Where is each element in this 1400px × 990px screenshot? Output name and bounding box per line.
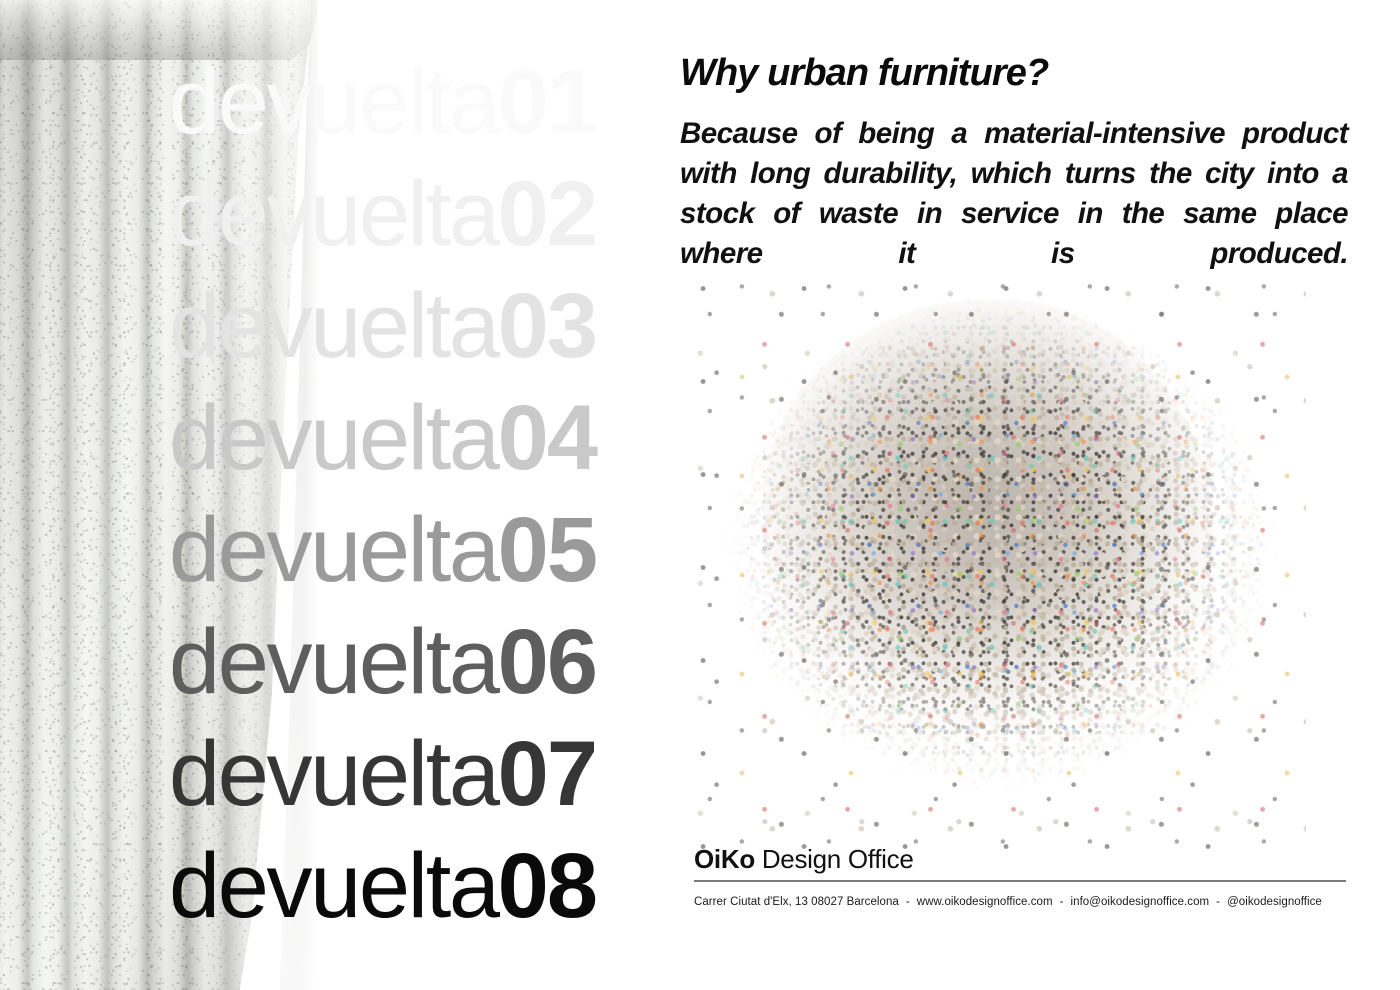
devuelta-number-stack: devuelta01 devuelta02 devuelta03 devuelt…: [0, 0, 640, 990]
devuelta-number-06: 06: [498, 611, 596, 713]
footer: OiKo Design Office Carrer Ciutat d'Elx, …: [694, 842, 1346, 908]
devuelta-word-03: devuelta: [169, 275, 498, 377]
devuelta-row-08: devuelta08: [169, 840, 596, 932]
devuelta-row-07: devuelta07: [169, 728, 596, 820]
footer-divider: [694, 880, 1346, 882]
devuelta-word-04: devuelta: [169, 387, 498, 489]
devuelta-word-02: devuelta: [169, 163, 498, 265]
footer-email[interactable]: info@oikodesignoffice.com: [1071, 896, 1210, 908]
devuelta-word-06: devuelta: [169, 611, 498, 713]
devuelta-word-05: devuelta: [169, 499, 498, 601]
footer-address: Carrer Ciutat d'Elx, 13 08027 Barcelona: [694, 896, 899, 908]
left-panel: devuelta01 devuelta02 devuelta03 devuelt…: [0, 0, 640, 990]
footer-contact-line: Carrer Ciutat d'Elx, 13 08027 Barcelona-…: [694, 896, 1346, 908]
oiko-logo-bold: OiKo: [694, 844, 755, 874]
footer-separator-2: -: [1053, 896, 1071, 908]
devuelta-word-01: devuelta: [169, 51, 498, 153]
devuelta-row-04: devuelta04: [169, 392, 596, 484]
devuelta-row-02: devuelta02: [169, 168, 596, 260]
footer-separator-3: -: [1209, 896, 1227, 908]
waste-scatter-debris: [694, 282, 1306, 852]
devuelta-number-02: 02: [498, 163, 596, 265]
devuelta-word-08: devuelta: [169, 835, 498, 937]
page-title: Why urban furniture?: [680, 52, 1048, 95]
devuelta-number-05: 05: [498, 499, 596, 601]
devuelta-row-05: devuelta05: [169, 504, 596, 596]
devuelta-row-03: devuelta03: [169, 280, 596, 372]
devuelta-number-01: 01: [498, 51, 596, 153]
oiko-logo: OiKo Design Office: [694, 842, 1346, 876]
poster-canvas: devuelta01 devuelta02 devuelta03 devuelt…: [0, 0, 1400, 990]
devuelta-word-07: devuelta: [169, 723, 498, 825]
footer-social-handle[interactable]: @oikodesignoffice: [1227, 896, 1322, 908]
devuelta-number-03: 03: [498, 275, 596, 377]
devuelta-number-08: 08: [498, 835, 596, 937]
oiko-logo-light: Design Office: [755, 844, 914, 874]
devuelta-row-01: devuelta01: [169, 56, 596, 148]
devuelta-number-07: 07: [498, 723, 596, 825]
right-panel: Why urban furniture? Because of being a …: [678, 0, 1360, 990]
footer-website[interactable]: www.oikodesignoffice.com: [917, 896, 1053, 908]
devuelta-row-06: devuelta06: [169, 616, 596, 708]
devuelta-number-04: 04: [498, 387, 596, 489]
shredded-waste-pile-photo: [694, 282, 1306, 852]
footer-separator-1: -: [899, 896, 917, 908]
